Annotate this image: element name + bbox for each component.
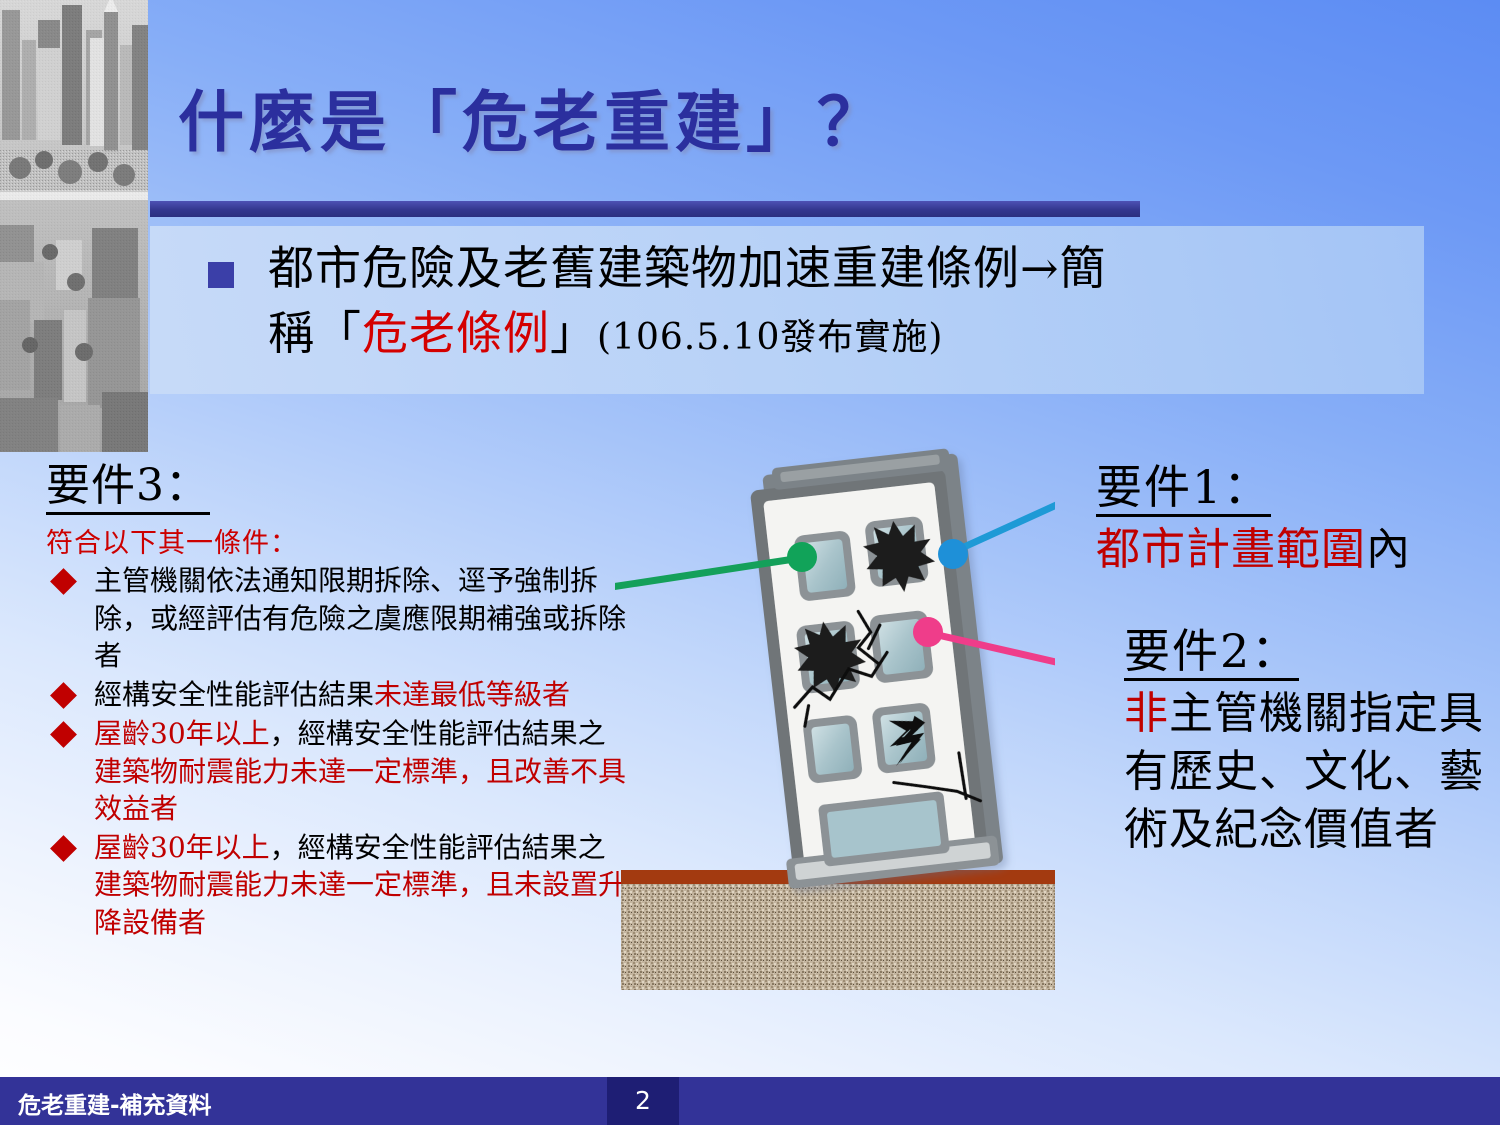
red-diamond-icon	[50, 568, 77, 595]
subtitle-line-2-mid: 」	[550, 306, 597, 360]
req3-item-1-seg-0: 經構安全性能評估結果	[94, 678, 374, 711]
red-diamond-icon	[50, 721, 77, 748]
requirement-1-heading: 要件1：	[1096, 462, 1271, 517]
requirement-2-heading: 要件2：	[1124, 626, 1299, 681]
req3-item-2-seg-0: 屋齡30年以上	[94, 717, 270, 750]
requirement-1-block: 要件1： 都市計畫範圍內	[1096, 462, 1496, 579]
requirement-3-item: 主管機關依法通知限期拆除、逕予強制拆除，或經評估有危險之虞應限期補強或拆除者	[46, 562, 626, 674]
subtitle-line-2-prefix: 稱「	[268, 306, 362, 360]
requirement-1-body: 都市計畫範圍內	[1096, 521, 1496, 579]
subtitle-panel: 都市危險及老舊建築物加速重建條例→簡 稱「危老條例」(106.5.10發布實施)	[150, 226, 1424, 394]
slide-canvas: 什麼是「危老重建」？ 都市危險及老舊建築物加速重建條例→簡 稱「危老條例」(10…	[0, 0, 1500, 1125]
footer-title: 危老重建-補充資料	[18, 1086, 212, 1120]
req3-item-2-seg-2: 建築物耐震能力未達一定標準，且改善不具效益者	[94, 755, 626, 825]
subtitle-date-note: (106.5.10發布實施)	[597, 317, 943, 358]
subtitle-line-1: 都市危險及老舊建築物加速重建條例→簡	[268, 241, 1107, 295]
page-title: 什麼是「危老重建」？	[178, 88, 888, 157]
req3-item-3-seg-2: 建築物耐震能力未達一定標準，且未設置升降設備者	[94, 868, 626, 938]
requirement-3-heading: 要件3：	[46, 462, 210, 515]
requirement-1-heading-wrap: 要件1：	[1096, 462, 1496, 517]
ground-soil	[621, 884, 1055, 990]
requirement-1-body-black: 內	[1366, 524, 1411, 575]
red-diamond-icon	[50, 682, 77, 709]
requirement-3-heading-wrap: 要件3：	[46, 462, 626, 515]
req3-item-1-seg-1: 未達最低等級者	[374, 678, 570, 711]
requirement-1-body-red: 都市計畫範圍	[1096, 524, 1366, 575]
requirement-2-body-black: 主管機關指定具有歷史、文化、藝術及紀念價值者	[1124, 688, 1484, 855]
requirement-2-body: 非主管機關指定具有歷史、文化、藝術及紀念價值者	[1124, 685, 1500, 859]
requirement-3-subheading: 符合以下其一條件：	[46, 521, 626, 560]
requirement-3-item: 屋齡30年以上，經構安全性能評估結果之建築物耐震能力未達一定標準，且未設置升降設…	[46, 829, 626, 941]
damaged-building-illustration	[615, 440, 1055, 1010]
requirement-3-item: 經構安全性能評估結果未達最低等級者	[46, 676, 626, 713]
requirement-3-item: 屋齡30年以上，經構安全性能評估結果之建築物耐震能力未達一定標準，且改善不具效益…	[46, 715, 626, 827]
requirement-2-block: 要件2： 非主管機關指定具有歷史、文化、藝術及紀念價值者	[1124, 626, 1500, 859]
page-number: 2	[607, 1086, 679, 1115]
req3-item-3-seg-1: ，經構安全性能評估結果之	[270, 831, 606, 864]
requirement-3-block: 要件3： 符合以下其一條件： 主管機關依法通知限期拆除、逕予強制拆除，或經評估有…	[46, 462, 626, 941]
req3-item-2-seg-1: ，經構安全性能評估結果之	[270, 717, 606, 750]
subtitle-highlight: 危老條例	[362, 306, 550, 360]
req3-item-3-seg-0: 屋齡30年以上	[94, 831, 270, 864]
subtitle-text-block: 都市危險及老舊建築物加速重建條例→簡 稱「危老條例」(106.5.10發布實施)	[268, 236, 1408, 367]
building-group	[742, 447, 1004, 889]
footer-bar: 危老重建-補充資料 2	[0, 1077, 1500, 1125]
title-divider-rule	[150, 201, 1140, 217]
req3-item-0-seg-0: 主管機關依法通知限期拆除、逕予強制拆除，或經評估有危險之虞應限期補強或拆除者	[94, 564, 626, 671]
requirement-2-body-red: 非	[1124, 688, 1169, 739]
square-bullet-icon	[208, 262, 234, 288]
red-diamond-icon	[50, 835, 77, 862]
requirement-2-heading-wrap: 要件2：	[1124, 626, 1500, 681]
city-skyline-photo	[0, 0, 148, 452]
